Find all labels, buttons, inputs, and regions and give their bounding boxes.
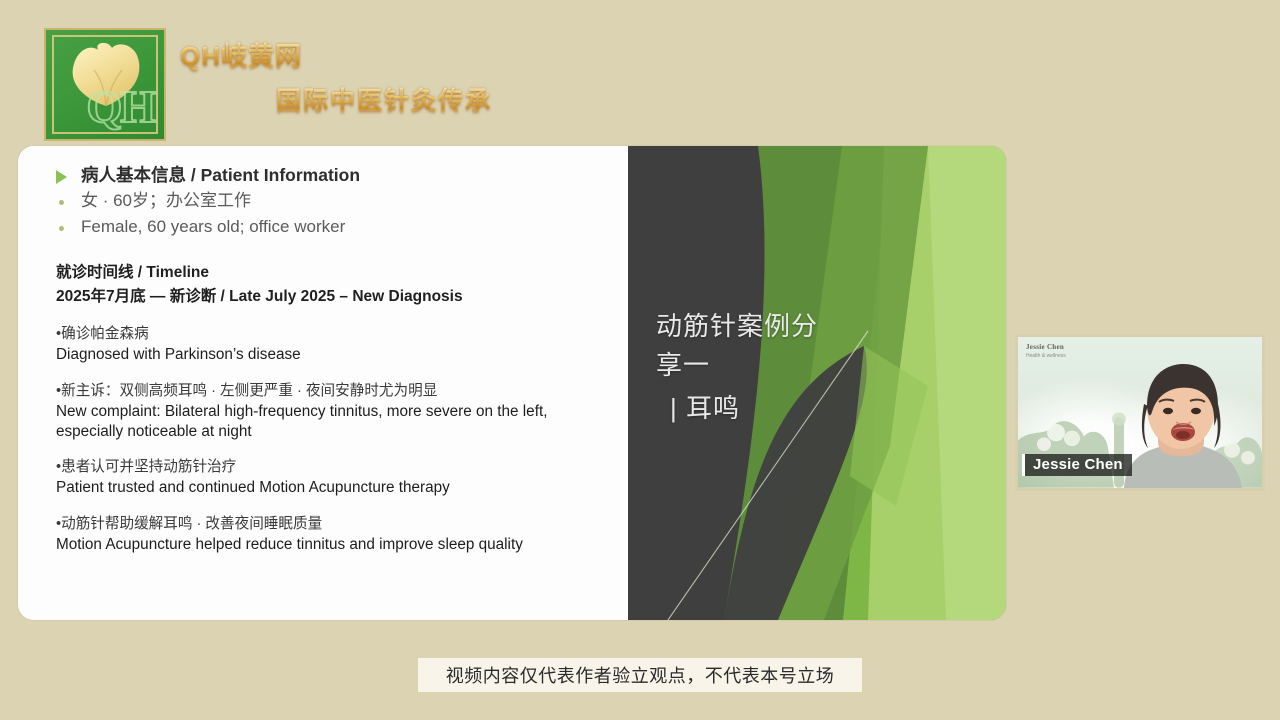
watermark-name: Jessie Chen [1026, 343, 1066, 353]
slide-title-line3: | 耳鸣 [656, 390, 956, 427]
speaker-name-label: Jessie Chen [1022, 454, 1132, 476]
patient-detail-en: Female, 60 years old; office worker [81, 214, 345, 240]
entry-en: Diagnosed with Parkinson’s disease [56, 345, 610, 365]
entry-cn: •确诊帕金森病 [56, 324, 610, 345]
entry-en: New complaint: Bilateral high-frequency … [56, 402, 610, 442]
entry-cn: •患者认可并坚持动筋针治疗 [56, 457, 610, 478]
timeline-heading: 就诊时间线 / Timeline [56, 261, 610, 285]
ginkgo-leaf-logo: QH [44, 28, 166, 141]
slide-title-line2: 享一 [656, 347, 956, 384]
entry-cn: •新主诉：双侧高频耳鸣 · 左侧更严重 · 夜间安静时尤为明显 [56, 381, 610, 402]
disclaimer-caption: 视频内容仅代表作者验立观点，不代表本号立场 [418, 658, 862, 692]
patient-info-heading-row: 病人基本信息 / Patient Information [56, 162, 610, 188]
timeline-entry: •患者认可并坚持动筋针治疗 Patient trusted and contin… [56, 457, 610, 498]
dot-bullet-icon [59, 226, 64, 231]
watermark-tagline: Health & wellness [1026, 353, 1066, 360]
slide-title-panel: 动筋针案例分 享一 | 耳鸣 [628, 146, 1006, 620]
channel-header: QH QH岐黄网 国际中医针灸传承 [0, 0, 1280, 146]
patient-detail-cn: 女 · 60岁；办公室工作 [81, 188, 251, 214]
triangle-bullet-icon [56, 170, 67, 184]
timeline-block: 就诊时间线 / Timeline 2025年7月底 — 新诊断 / Late J… [56, 261, 610, 309]
entry-en: Patient trusted and continued Motion Acu… [56, 478, 610, 498]
slide-title: 动筋针案例分 享一 | 耳鸣 [656, 308, 956, 427]
patient-detail-row-cn: 女 · 60岁；办公室工作 [56, 188, 610, 214]
logo-monogram: QH [86, 80, 154, 133]
patient-info-heading: 病人基本信息 / Patient Information [81, 162, 360, 188]
webcam-watermark: Jessie Chen Health & wellness [1026, 343, 1066, 360]
timeline-entry: •动筋针帮助缓解耳鸣 · 改善夜间睡眠质量 Motion Acupuncture… [56, 514, 610, 555]
presentation-slide: 病人基本信息 / Patient Information 女 · 60岁；办公室… [18, 146, 1006, 620]
entry-cn: •动筋针帮助缓解耳鸣 · 改善夜间睡眠质量 [56, 514, 610, 535]
brand-subtitle: 国际中医针灸传承 [276, 81, 600, 117]
slide-content-left: 病人基本信息 / Patient Information 女 · 60岁；办公室… [18, 146, 628, 620]
brand-title: QH岐黄网 [180, 36, 600, 73]
slide-title-line1: 动筋针案例分 [656, 311, 818, 341]
webcam-overlay[interactable]: Jessie Chen Health & wellness Jessie Che… [1015, 334, 1265, 491]
dot-bullet-icon [59, 200, 64, 205]
timeline-date: 2025年7月底 — 新诊断 / Late July 2025 – New Di… [56, 285, 610, 309]
patient-detail-row-en: Female, 60 years old; office worker [56, 214, 610, 240]
timeline-entry: •新主诉：双侧高频耳鸣 · 左侧更严重 · 夜间安静时尤为明显 New comp… [56, 381, 610, 443]
timeline-entry: •确诊帕金森病 Diagnosed with Parkinson’s disea… [56, 324, 610, 365]
entry-en: Motion Acupuncture helped reduce tinnitu… [56, 535, 610, 555]
brand-text-group: QH岐黄网 国际中医针灸传承 [180, 36, 600, 128]
